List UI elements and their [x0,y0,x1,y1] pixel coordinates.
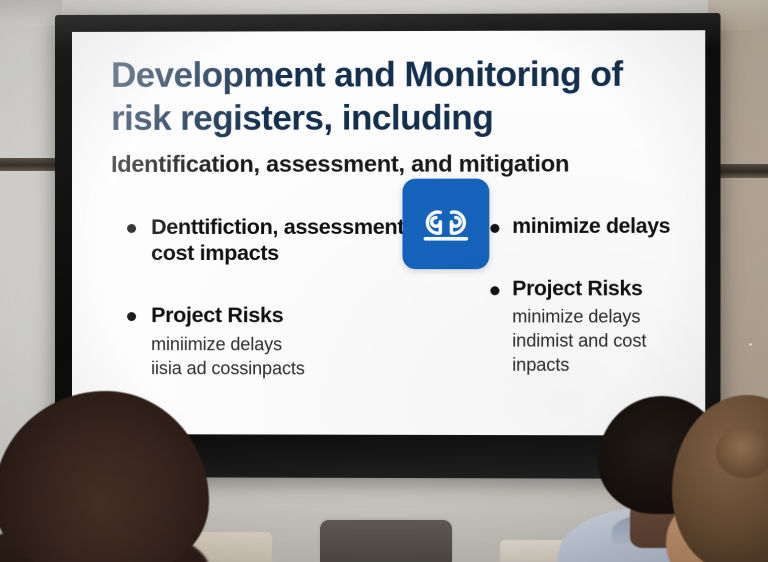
bullet-column-left: Denttifiction, assessment and cost impac… [111,214,448,431]
balance-scales-glyph [418,202,475,246]
bullet-item: Project Risks miniimize delays iisia ad … [120,302,448,381]
bullet-subline: miniimize delays [151,333,447,357]
balance-base-bar [424,237,468,241]
bullet-subline: minimize delays [512,306,685,330]
slide-title: Development and Monitoring of risk regis… [111,52,685,140]
bullet-item: Denttifiction, assessment and cost impac… [120,214,448,267]
bullet-dot-icon [127,312,136,321]
bullet-item: Project Risks minimize delays indimist a… [481,276,685,378]
bullet-heading: minimize delays [512,214,685,240]
slide-subtitle: Identification, assessment, and mitigati… [111,150,685,178]
conference-room-scene: Development and Monitoring of risk regis… [0,0,768,562]
wall-left-upper [0,0,62,26]
balance-scales-icon [402,179,489,270]
slide-content: Development and Monitoring of risk regis… [111,52,685,431]
bullet-heading: Project Risks [512,276,685,302]
slide-columns: Denttifiction, assessment and cost impac… [111,214,685,432]
bullet-subline: indimist and cost [512,330,685,354]
bullet-dot-icon [490,224,499,233]
bullet-subline: iisia ad cossinpacts [151,357,447,381]
bullet-dot-icon [490,286,499,295]
bullet-heading: Project Risks [151,303,447,330]
bullet-subline: inpacts [512,354,685,378]
bullet-dot-icon [127,224,136,233]
attendee-right-bun [716,426,768,478]
wall-trim-band-left [0,158,62,171]
chair-center [320,520,452,562]
bullet-item: minimize delays [481,214,685,240]
wall-speck [749,343,752,346]
presentation-slide[interactable]: Development and Monitoring of risk regis… [72,30,705,435]
